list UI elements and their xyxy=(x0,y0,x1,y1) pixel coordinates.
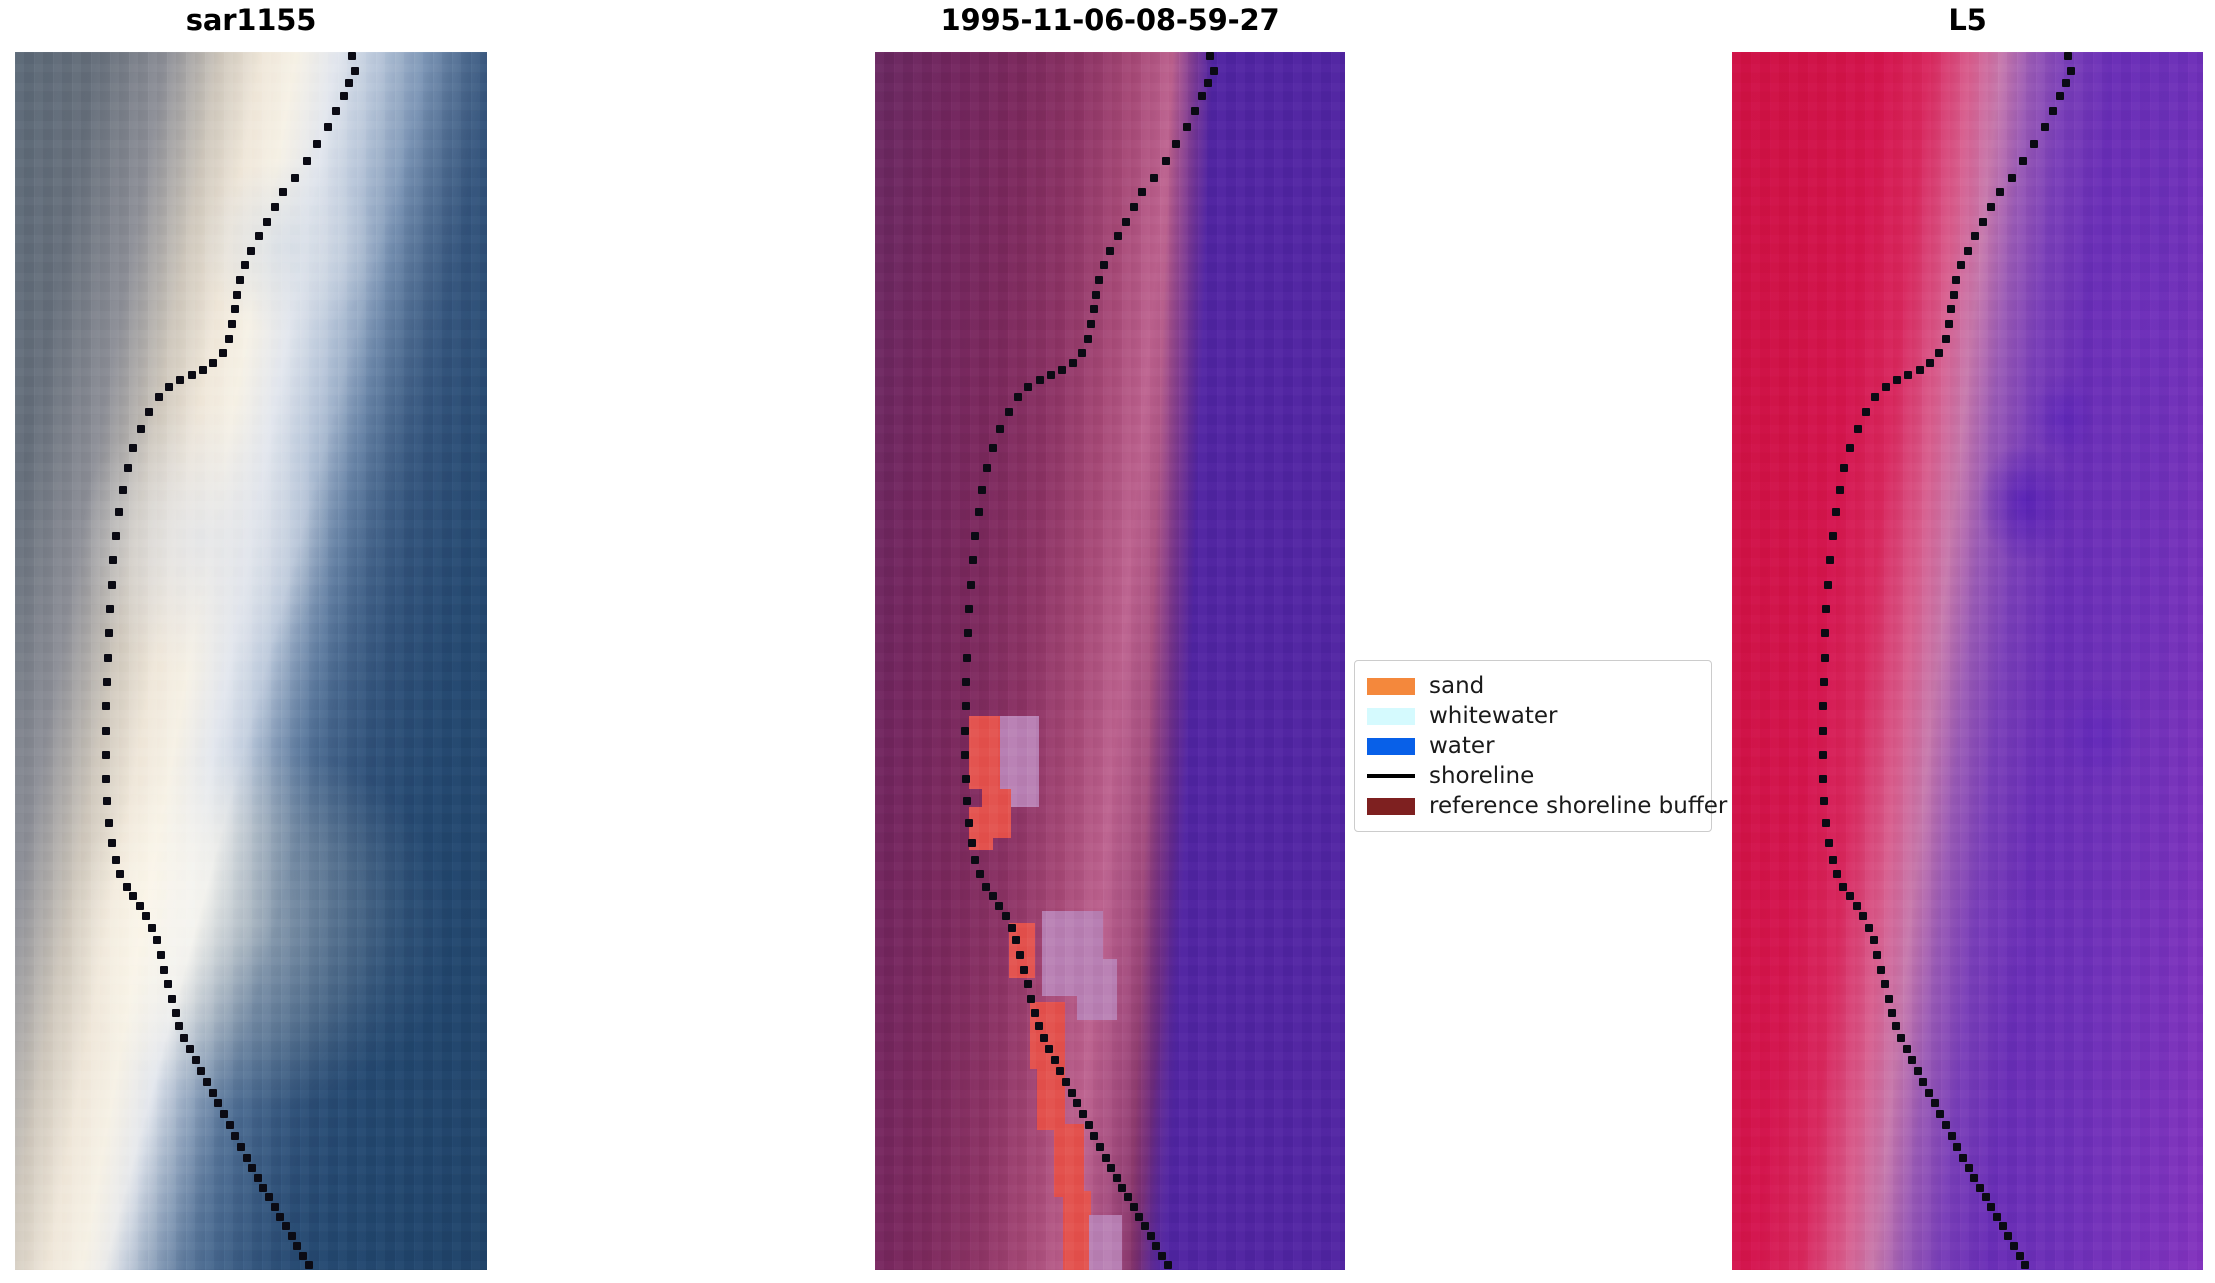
shoreline-point xyxy=(231,305,239,313)
shoreline-point xyxy=(102,702,110,710)
shoreline-point xyxy=(967,581,975,589)
shoreline-point xyxy=(1819,727,1827,735)
shoreline-point xyxy=(1051,1056,1059,1064)
shoreline-point xyxy=(971,532,979,540)
shoreline-point xyxy=(1008,924,1016,932)
shoreline-point xyxy=(1888,1009,1896,1017)
shoreline-point xyxy=(1090,305,1098,313)
shoreline-point xyxy=(968,839,976,847)
shoreline-point xyxy=(192,1056,200,1064)
shoreline-point xyxy=(1102,1154,1110,1162)
panel-classified[interactable] xyxy=(875,52,1345,1270)
shoreline-point xyxy=(263,218,271,226)
shoreline-point xyxy=(1979,218,1987,226)
shoreline-point xyxy=(1897,1034,1905,1042)
shoreline-point xyxy=(1073,1099,1081,1107)
shoreline-point xyxy=(1821,654,1829,662)
shoreline-point xyxy=(1840,464,1848,472)
shoreline-point xyxy=(305,1261,313,1269)
shoreline-point xyxy=(248,1164,256,1172)
shoreline-point xyxy=(324,123,332,131)
shoreline-point xyxy=(1130,203,1138,211)
shoreline-point xyxy=(1107,1164,1115,1172)
shoreline-point xyxy=(271,203,279,211)
shoreline-point xyxy=(1122,218,1130,226)
shoreline-point xyxy=(1062,1078,1070,1086)
shoreline-point xyxy=(962,678,970,686)
legend: sand whitewater water shoreline referenc… xyxy=(1354,660,1712,832)
shoreline-point xyxy=(2041,123,2049,131)
shoreline-point xyxy=(1821,629,1829,637)
shoreline-point xyxy=(164,980,172,988)
shoreline-point xyxy=(1069,359,1077,367)
shoreline-point xyxy=(1881,980,1889,988)
shoreline-point xyxy=(2004,1232,2012,1240)
shoreline-point xyxy=(1987,1203,1995,1211)
shoreline-point xyxy=(1947,305,1955,313)
shoreline-point xyxy=(1882,383,1890,391)
shoreline-point xyxy=(1819,775,1827,783)
shoreline-point xyxy=(241,261,249,269)
shoreline-point xyxy=(996,425,1004,433)
sand-swatch-icon xyxy=(1367,678,1415,695)
shoreline-point xyxy=(254,1174,262,1182)
panel-title-classified: 1995-11-06-08-59-27 xyxy=(875,6,1345,35)
shoreline-point xyxy=(2008,174,2016,182)
shoreline-point xyxy=(1871,393,1879,401)
figure-canvas: sar1155 1995-11-06-08-59-27 L5 xyxy=(0,0,2215,1283)
shoreline-point xyxy=(199,366,207,374)
shoreline-point xyxy=(2067,67,2075,75)
legend-label-shoreline: shoreline xyxy=(1429,765,1534,788)
shoreline-point xyxy=(119,486,127,494)
shoreline-point xyxy=(1084,335,1092,343)
shoreline-point xyxy=(243,1154,251,1162)
shoreline-point xyxy=(115,508,123,516)
shoreline-point xyxy=(102,751,110,759)
shoreline-point xyxy=(271,1203,279,1211)
whitewater-swatch-icon xyxy=(1367,708,1415,725)
shoreline-point xyxy=(1959,1154,1967,1162)
shoreline-point xyxy=(1914,1067,1922,1075)
shoreline-point xyxy=(1118,1184,1126,1192)
shoreline-point xyxy=(102,727,110,735)
shoreline-point xyxy=(1832,508,1840,516)
shoreline-point xyxy=(1822,605,1830,613)
reference-buffer-swatch-icon xyxy=(1367,798,1415,815)
shoreline-point xyxy=(1908,1056,1916,1064)
shoreline-point xyxy=(1865,924,1873,932)
shoreline-point xyxy=(1078,349,1086,357)
shoreline-point xyxy=(108,581,116,589)
shoreline-point xyxy=(108,839,116,847)
shoreline-point xyxy=(102,775,110,783)
shoreline-point xyxy=(1862,408,1870,416)
shoreline-point xyxy=(1999,1222,2007,1230)
legend-item-shoreline: shoreline xyxy=(1367,761,1699,791)
shoreline-point xyxy=(1150,174,1158,182)
shoreline-point xyxy=(1873,951,1881,959)
shoreline-point xyxy=(160,966,168,974)
shoreline-point xyxy=(1106,247,1114,255)
shoreline-point xyxy=(989,444,997,452)
shoreline-point xyxy=(255,232,263,240)
shoreline-point xyxy=(1945,320,1953,328)
shoreline-point xyxy=(209,359,217,367)
shoreline-point xyxy=(1839,883,1847,891)
shoreline-point xyxy=(1141,1222,1149,1230)
shoreline-point xyxy=(1056,1067,1064,1075)
shoreline-point xyxy=(1833,870,1841,878)
panel-index[interactable] xyxy=(1732,52,2203,1270)
rgb-image xyxy=(15,52,487,1270)
shoreline-point xyxy=(313,140,321,148)
shoreline-point xyxy=(228,320,236,328)
shoreline-overlay-rgb xyxy=(15,52,487,1270)
shoreline-point xyxy=(1012,936,1020,944)
shoreline-point xyxy=(219,349,227,357)
shoreline-point xyxy=(1172,140,1180,148)
shoreline-point xyxy=(1836,486,1844,494)
shoreline-point xyxy=(2019,157,2027,165)
shoreline-point xyxy=(203,1078,211,1086)
shoreline-point xyxy=(1005,408,1013,416)
shoreline-point xyxy=(1953,1143,1961,1151)
shoreline-point xyxy=(1085,1121,1093,1129)
shoreline-point xyxy=(106,605,114,613)
shoreline-point xyxy=(976,870,984,878)
shoreline-line-icon xyxy=(1367,774,1415,778)
shoreline-point xyxy=(1919,1078,1927,1086)
shoreline-point xyxy=(1820,678,1828,686)
shoreline-point xyxy=(963,654,971,662)
shoreline-point xyxy=(299,1252,307,1260)
legend-item-water: water xyxy=(1367,731,1699,761)
shoreline-point xyxy=(1036,376,1044,384)
shoreline-point xyxy=(1892,1022,1900,1030)
shoreline-point xyxy=(348,52,356,60)
shoreline-point xyxy=(1926,359,1934,367)
shoreline-point xyxy=(1016,951,1024,959)
shoreline-point xyxy=(2010,1242,2018,1250)
shoreline-point xyxy=(2016,1252,2024,1260)
shoreline-point xyxy=(1976,1184,1984,1192)
shoreline-point xyxy=(1058,366,1066,374)
shoreline-point xyxy=(1993,1213,2001,1221)
shoreline-point xyxy=(1819,751,1827,759)
shoreline-point xyxy=(1824,581,1832,589)
shoreline-point xyxy=(1020,966,1028,974)
shoreline-point xyxy=(226,1121,234,1129)
legend-label-sand: sand xyxy=(1429,675,1484,698)
shoreline-point xyxy=(1100,261,1108,269)
shoreline-point xyxy=(1092,291,1100,299)
shoreline-point xyxy=(142,912,150,920)
shoreline-point xyxy=(1040,1034,1048,1042)
shoreline-point xyxy=(1853,902,1861,910)
shoreline-point xyxy=(1942,335,1950,343)
shoreline-point xyxy=(104,654,112,662)
legend-item-whitewater: whitewater xyxy=(1367,701,1699,731)
shoreline-point xyxy=(236,276,244,284)
shoreline-point xyxy=(1893,376,1901,384)
legend-label-water: water xyxy=(1429,735,1495,758)
shoreline-point xyxy=(247,247,255,255)
shoreline-point xyxy=(209,1089,217,1097)
shoreline-point xyxy=(962,702,970,710)
shoreline-point xyxy=(1002,912,1010,920)
shoreline-point xyxy=(1095,276,1103,284)
shoreline-point xyxy=(340,92,348,100)
shoreline-point xyxy=(1846,444,1854,452)
legend-label-reference-shoreline-buffer: reference shoreline buffer xyxy=(1429,795,1727,818)
shoreline-point xyxy=(1162,157,1170,165)
shoreline-point xyxy=(129,444,137,452)
shoreline-point xyxy=(1113,1174,1121,1182)
shoreline-point xyxy=(1024,980,1032,988)
shoreline-point xyxy=(197,1067,205,1075)
shoreline-point xyxy=(332,107,340,115)
shoreline-point xyxy=(965,605,973,613)
shoreline-point xyxy=(2056,92,2064,100)
shoreline-point xyxy=(962,775,970,783)
legend-item-reference-shoreline-buffer: reference shoreline buffer xyxy=(1367,791,1699,821)
shoreline-point xyxy=(982,883,990,891)
shoreline-point xyxy=(1846,892,1854,900)
shoreline-point xyxy=(288,1232,296,1240)
shoreline-point xyxy=(1903,1045,1911,1053)
shoreline-point xyxy=(965,819,973,827)
shoreline-point xyxy=(220,1110,228,1118)
shoreline-point xyxy=(1045,1045,1053,1053)
shoreline-point xyxy=(2021,1261,2029,1269)
shoreline-point xyxy=(1210,67,1218,75)
shoreline-point xyxy=(172,1009,180,1017)
shoreline-point xyxy=(231,1132,239,1140)
shoreline-point xyxy=(233,291,241,299)
shoreline-point xyxy=(1970,1174,1978,1182)
shoreline-point xyxy=(225,335,233,343)
shoreline-point xyxy=(1152,1242,1160,1250)
shoreline-point xyxy=(1204,79,1212,87)
shoreline-point xyxy=(1950,291,1958,299)
shoreline-point xyxy=(155,393,163,401)
shoreline-overlay-index xyxy=(1732,52,2203,1270)
shoreline-point xyxy=(963,797,971,805)
legend-label-whitewater: whitewater xyxy=(1429,705,1557,728)
shoreline-point xyxy=(971,856,979,864)
shoreline-point xyxy=(1829,856,1837,864)
shoreline-point xyxy=(112,532,120,540)
shoreline-point xyxy=(136,902,144,910)
shoreline-point xyxy=(259,1184,267,1192)
shoreline-point xyxy=(165,383,173,391)
shoreline-point xyxy=(105,819,113,827)
shoreline-point xyxy=(180,1034,188,1042)
shoreline-overlay-classified xyxy=(875,52,1345,1270)
shoreline-point xyxy=(112,856,120,864)
shoreline-point xyxy=(175,1022,183,1030)
shoreline-point xyxy=(975,508,983,516)
shoreline-point xyxy=(961,751,969,759)
shoreline-point xyxy=(1047,371,1055,379)
shoreline-point xyxy=(265,1193,273,1201)
shoreline-point xyxy=(1936,1110,1944,1118)
shoreline-point xyxy=(1965,1164,1973,1172)
shoreline-point xyxy=(1952,276,1960,284)
shoreline-point xyxy=(157,951,165,959)
shoreline-point xyxy=(1014,393,1022,401)
shoreline-point xyxy=(995,902,1003,910)
shoreline-point xyxy=(1079,1110,1087,1118)
shoreline-point xyxy=(989,892,997,900)
shoreline-point xyxy=(2062,79,2070,87)
shoreline-point xyxy=(1854,425,1862,433)
shoreline-point xyxy=(153,936,161,944)
shoreline-point xyxy=(279,188,287,196)
shoreline-point xyxy=(145,408,153,416)
shoreline-point xyxy=(1035,1022,1043,1030)
shoreline-point xyxy=(282,1222,290,1230)
shoreline-point xyxy=(129,892,137,900)
shoreline-point xyxy=(1931,1099,1939,1107)
shoreline-point xyxy=(1183,123,1191,131)
shoreline-point xyxy=(1877,966,1885,974)
shoreline-point xyxy=(1948,1132,1956,1140)
shoreline-point xyxy=(1114,232,1122,240)
panel-title-index: L5 xyxy=(1732,6,2203,35)
shoreline-point xyxy=(1164,1261,1172,1269)
shoreline-point xyxy=(1971,232,1979,240)
shoreline-point xyxy=(303,157,311,165)
shoreline-point xyxy=(351,67,359,75)
shoreline-point xyxy=(237,1143,245,1151)
shoreline-point xyxy=(1068,1089,1076,1097)
shoreline-point xyxy=(1135,1213,1143,1221)
shoreline-point xyxy=(1158,1252,1166,1260)
shoreline-point xyxy=(1925,1089,1933,1097)
shoreline-point xyxy=(1090,1132,1098,1140)
classified-image xyxy=(875,52,1345,1270)
shoreline-point xyxy=(105,629,113,637)
shoreline-point xyxy=(1859,912,1867,920)
shoreline-point xyxy=(1024,383,1032,391)
shoreline-point xyxy=(1031,1009,1039,1017)
shoreline-point xyxy=(1916,366,1924,374)
shoreline-point xyxy=(148,924,156,932)
shoreline-point xyxy=(978,486,986,494)
shoreline-point xyxy=(137,425,145,433)
shoreline-point xyxy=(961,727,969,735)
index-image xyxy=(1732,52,2203,1270)
shoreline-point xyxy=(2064,52,2072,60)
shoreline-point xyxy=(1096,1143,1104,1151)
shoreline-point xyxy=(1987,203,1995,211)
shoreline-point xyxy=(964,629,972,637)
shoreline-point xyxy=(291,174,299,182)
shoreline-point xyxy=(1870,936,1878,944)
shoreline-point xyxy=(1027,995,1035,1003)
shoreline-point xyxy=(276,1213,284,1221)
shoreline-point xyxy=(1829,532,1837,540)
shoreline-point xyxy=(345,79,353,87)
shoreline-point xyxy=(1982,1193,1990,1201)
shoreline-point xyxy=(1124,1193,1132,1201)
shoreline-point xyxy=(1206,52,1214,60)
shoreline-point xyxy=(983,464,991,472)
shoreline-point xyxy=(2049,107,2057,115)
shoreline-point xyxy=(124,464,132,472)
shoreline-point xyxy=(103,678,111,686)
shoreline-point xyxy=(1130,1203,1138,1211)
shoreline-point xyxy=(1138,188,1146,196)
shoreline-point xyxy=(109,556,117,564)
shoreline-point xyxy=(1996,188,2004,196)
shoreline-point xyxy=(188,371,196,379)
shoreline-point xyxy=(1942,1121,1950,1129)
shoreline-point xyxy=(168,995,176,1003)
shoreline-point xyxy=(1822,819,1830,827)
shoreline-point xyxy=(116,870,124,878)
shoreline-point xyxy=(1819,702,1827,710)
shoreline-point xyxy=(1147,1232,1155,1240)
shoreline-point xyxy=(176,376,184,384)
shoreline-point xyxy=(123,883,131,891)
panel-rgb[interactable] xyxy=(15,52,487,1270)
shoreline-point xyxy=(1904,371,1912,379)
shoreline-point xyxy=(1087,320,1095,328)
shoreline-point xyxy=(103,797,111,805)
shoreline-point xyxy=(969,556,977,564)
shoreline-point xyxy=(1198,92,1206,100)
shoreline-point xyxy=(1825,839,1833,847)
panel-title-rgb: sar1155 xyxy=(15,6,487,35)
shoreline-point xyxy=(1964,247,1972,255)
shoreline-point xyxy=(2030,140,2038,148)
shoreline-point xyxy=(293,1242,301,1250)
shoreline-point xyxy=(186,1045,194,1053)
water-swatch-icon xyxy=(1367,738,1415,755)
shoreline-point xyxy=(1957,261,1965,269)
shoreline-point xyxy=(214,1099,222,1107)
shoreline-point xyxy=(1885,995,1893,1003)
shoreline-point xyxy=(1935,349,1943,357)
shoreline-point xyxy=(1191,107,1199,115)
shoreline-point xyxy=(1820,797,1828,805)
shoreline-point xyxy=(1826,556,1834,564)
legend-item-sand: sand xyxy=(1367,671,1699,701)
